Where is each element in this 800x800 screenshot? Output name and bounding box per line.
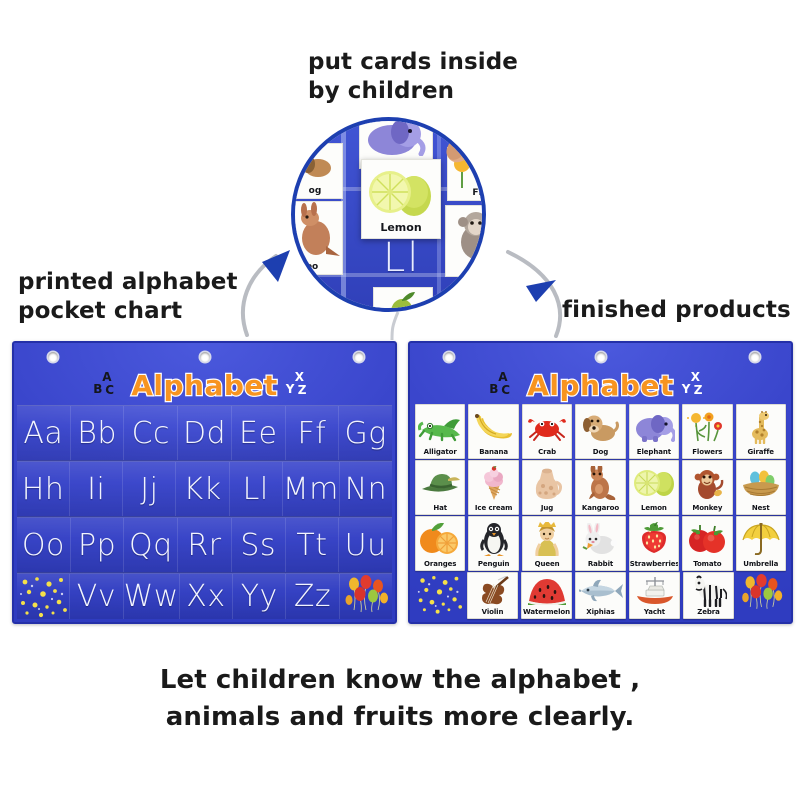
yacht-icon bbox=[634, 576, 676, 606]
balloons-decoration-cell bbox=[737, 573, 786, 618]
letter-pocket[interactable]: Oo bbox=[17, 518, 71, 572]
product-infographic: put cards inside by children printed alp… bbox=[0, 0, 800, 800]
card-art bbox=[683, 518, 731, 559]
inset-card-dog: og bbox=[291, 143, 343, 199]
card-art bbox=[523, 406, 571, 447]
xyz-decoration-right: X Y Z bbox=[682, 370, 712, 400]
card-art bbox=[522, 574, 571, 607]
letter-pocket[interactable]: Ww bbox=[124, 574, 180, 619]
chart-title-row: A B C Alphabet X Y Z bbox=[410, 365, 791, 405]
card-label: Jug bbox=[523, 503, 571, 514]
picture-card-yacht[interactable]: Yacht bbox=[629, 572, 680, 619]
elephant-icon bbox=[633, 412, 675, 442]
tomato-icon bbox=[687, 524, 727, 554]
letter-label: Xx bbox=[186, 579, 225, 614]
card-art bbox=[630, 574, 679, 607]
closeup-photo: og oo bbox=[295, 121, 482, 308]
dog-icon bbox=[581, 412, 619, 442]
letter-pocket[interactable]: Vv bbox=[70, 574, 123, 619]
letter-pocket[interactable]: Zz bbox=[286, 574, 339, 619]
grommet bbox=[48, 352, 58, 362]
letter-pocket[interactable]: Nn bbox=[340, 462, 392, 516]
picture-card-banana[interactable]: Banana bbox=[468, 404, 518, 459]
letter-label: Ee bbox=[239, 416, 277, 451]
xyz-decoration-right: X Y Z bbox=[286, 370, 316, 400]
flowers-icon bbox=[687, 411, 727, 443]
picture-card-alligator[interactable]: Alligator bbox=[415, 404, 465, 459]
card-art bbox=[416, 406, 464, 447]
letter-label: Tt bbox=[296, 528, 327, 563]
card-art bbox=[576, 462, 624, 503]
abc-letter: A bbox=[498, 370, 507, 384]
arrow-head-right bbox=[526, 280, 556, 302]
picture-card-oranges[interactable]: Oranges bbox=[415, 516, 465, 571]
xyz-letter: X bbox=[295, 370, 304, 384]
card-label: Rabbit bbox=[576, 559, 624, 570]
card-label: Banana bbox=[469, 447, 517, 458]
picture-card-watermelon[interactable]: Watermelon bbox=[521, 572, 572, 619]
balloons-decoration-cell bbox=[340, 574, 392, 619]
letter-pocket[interactable]: Jj bbox=[123, 462, 176, 516]
letter-pocket[interactable]: Xx bbox=[180, 574, 233, 619]
picture-card-crab[interactable]: Crab bbox=[522, 404, 572, 459]
letter-label: Zz bbox=[294, 579, 331, 614]
card-art bbox=[630, 406, 678, 447]
xyz-letter: Z bbox=[694, 383, 703, 397]
letter-pocket[interactable]: Yy bbox=[233, 574, 286, 619]
closeup-photo-circle: og oo bbox=[291, 117, 486, 312]
letter-label: Jj bbox=[140, 472, 158, 507]
chart-title: Alphabet bbox=[527, 369, 674, 402]
hat-icon bbox=[418, 469, 462, 497]
letter-label: Qq bbox=[129, 528, 173, 563]
letter-pocket[interactable]: Hh bbox=[17, 462, 70, 516]
jug-icon bbox=[532, 466, 562, 500]
letter-label: Pp bbox=[78, 528, 116, 563]
picture-card-xiphias[interactable]: Xiphias bbox=[575, 572, 626, 619]
inset-card-kangaroo: oo bbox=[291, 201, 343, 275]
grommet bbox=[750, 352, 760, 362]
letter-pocket[interactable]: Mm bbox=[283, 462, 340, 516]
letter-pocket[interactable]: Aa bbox=[17, 406, 71, 460]
letter-label: Cc bbox=[132, 416, 170, 451]
letter-label: Dd bbox=[183, 416, 226, 451]
card-art bbox=[468, 574, 517, 607]
confetti-icon bbox=[17, 574, 69, 619]
chart-title-row: A B C Alphabet X Y Z bbox=[14, 365, 395, 405]
letter-label: Nn bbox=[345, 472, 387, 507]
letter-label: Ff bbox=[298, 416, 327, 451]
inset-card-label: og bbox=[291, 186, 342, 196]
card-label: Yacht bbox=[630, 607, 679, 618]
inset-lemon-label: Lemon bbox=[362, 221, 440, 234]
picture-card-penguin[interactable]: Penguin bbox=[468, 516, 518, 571]
xyz-letter: X bbox=[691, 370, 700, 384]
card-art bbox=[630, 518, 678, 559]
letter-pocket[interactable]: Ii bbox=[70, 462, 123, 516]
picture-card-row[interactable]: Hat Ice cream bbox=[415, 461, 786, 514]
xyz-letter: Z bbox=[298, 383, 307, 397]
abc-letter: A bbox=[102, 370, 111, 384]
rabbit-icon bbox=[582, 523, 618, 555]
grommet bbox=[596, 352, 606, 362]
inset-card-partial-bottom bbox=[373, 287, 433, 312]
kangaroo-icon bbox=[583, 466, 617, 500]
card-art bbox=[684, 574, 733, 607]
picture-card-row[interactable]: Violin Watermelon bbox=[415, 573, 786, 618]
picture-card-lemon[interactable]: Lemon bbox=[629, 460, 679, 515]
grommet bbox=[200, 352, 210, 362]
monkey-icon bbox=[446, 206, 486, 264]
letter-pocket[interactable]: Cc bbox=[124, 406, 178, 460]
picture-card-nest[interactable]: Nest bbox=[736, 460, 786, 515]
card-label: Hat bbox=[416, 503, 464, 514]
letter-label: Mm bbox=[283, 472, 339, 507]
card-art bbox=[416, 518, 464, 559]
inset-card-label: Mo bbox=[446, 264, 486, 274]
letter-pocket-row[interactable]: Hh Ii Jj Kk Ll Mm Nn bbox=[17, 461, 392, 517]
letter-pocket[interactable]: Ll bbox=[230, 462, 283, 516]
arrow-stem-center bbox=[392, 312, 398, 340]
card-art bbox=[737, 462, 785, 503]
letter-pocket[interactable]: Bb bbox=[71, 406, 125, 460]
card-art bbox=[630, 462, 678, 503]
card-art bbox=[576, 518, 624, 559]
xyz-letter: Y bbox=[286, 382, 295, 396]
picture-card-rabbit[interactable]: Rabbit bbox=[575, 516, 625, 571]
fruit-icon bbox=[374, 288, 432, 312]
card-label: Dog bbox=[576, 447, 624, 458]
card-label: Monkey bbox=[683, 503, 731, 514]
card-label: Penguin bbox=[469, 559, 517, 570]
letter-pocket-row[interactable]: Oo Pp Qq Rr Ss Tt Uu bbox=[17, 517, 392, 573]
letter-label: Yy bbox=[241, 579, 278, 614]
grommet bbox=[354, 352, 364, 362]
card-label: Queen bbox=[523, 559, 571, 570]
strawberries-icon bbox=[637, 522, 671, 556]
card-label: Flowers bbox=[683, 447, 731, 458]
monkey-icon bbox=[689, 467, 725, 499]
picture-card-hat[interactable]: Hat bbox=[415, 460, 465, 515]
letter-label: Bb bbox=[77, 416, 117, 451]
letter-label: Hh bbox=[22, 472, 65, 507]
card-art bbox=[469, 406, 517, 447]
arrow-head-left bbox=[262, 250, 290, 282]
letter-pocket[interactable]: Dd bbox=[178, 406, 232, 460]
picture-card-elephant[interactable]: Elephant bbox=[629, 404, 679, 459]
watermelon-icon bbox=[526, 577, 568, 605]
grommet bbox=[444, 352, 454, 362]
confetti-icon bbox=[415, 573, 464, 615]
letter-pocket[interactable]: Tt bbox=[286, 518, 340, 572]
crab-icon bbox=[527, 412, 567, 442]
letter-pocket[interactable]: Kk bbox=[176, 462, 229, 516]
picture-card-jug[interactable]: Jug bbox=[522, 460, 572, 515]
ice-cream-icon bbox=[480, 466, 508, 500]
card-label: Crab bbox=[523, 447, 571, 458]
letter-label: Ii bbox=[87, 472, 105, 507]
printed-alphabet-pocket-chart[interactable]: A B C Alphabet X Y Z Aa Bb Cc Dd Ee Ff G… bbox=[12, 341, 397, 624]
xiphias-icon bbox=[579, 578, 623, 604]
letter-label: Aa bbox=[23, 416, 63, 451]
picture-card-monkey[interactable]: Monkey bbox=[682, 460, 732, 515]
letter-pocket[interactable]: Ff bbox=[286, 406, 340, 460]
picture-card-dog[interactable]: Dog bbox=[575, 404, 625, 459]
card-label: Zebra bbox=[684, 607, 733, 618]
callout-finished-products: finished products bbox=[562, 296, 791, 325]
inset-card-monkey: Mo bbox=[445, 205, 486, 277]
card-label: Xiphias bbox=[576, 607, 625, 618]
card-art bbox=[523, 462, 571, 503]
card-label: Elephant bbox=[630, 447, 678, 458]
arrow-line-left bbox=[243, 256, 276, 335]
letter-pocket[interactable]: Pp bbox=[71, 518, 125, 572]
inset-pocket-letter: Ll bbox=[383, 235, 420, 281]
card-art bbox=[737, 518, 785, 559]
letter-pocket[interactable]: Ss bbox=[232, 518, 286, 572]
dog-icon bbox=[291, 144, 342, 186]
card-label: Kangaroo bbox=[576, 503, 624, 514]
letter-label: Gg bbox=[345, 416, 387, 451]
card-art bbox=[683, 462, 731, 503]
picture-card-row[interactable]: Oranges Penguin bbox=[415, 517, 786, 570]
letter-pocket-row[interactable]: Aa Bb Cc Dd Ee Ff Gg bbox=[17, 405, 392, 461]
callout-printed-alphabet-pocket-chart: printed alphabet pocket chart bbox=[18, 268, 238, 327]
card-art bbox=[576, 406, 624, 447]
abc-decoration-left: A B C bbox=[93, 370, 123, 400]
card-art bbox=[469, 518, 517, 559]
abc-letter: C bbox=[105, 383, 114, 397]
abc-letter: C bbox=[501, 383, 510, 397]
card-label: Nest bbox=[737, 503, 785, 514]
tagline-text: Let children know the alphabet , animals… bbox=[0, 662, 800, 736]
giraffe-icon bbox=[746, 410, 776, 444]
violin-icon bbox=[475, 576, 511, 606]
card-art bbox=[576, 574, 625, 607]
kangaroo-icon bbox=[291, 202, 342, 262]
confetti-decoration-cell bbox=[415, 573, 464, 618]
card-label: Tomato bbox=[683, 559, 731, 570]
letter-label: Vv bbox=[77, 579, 116, 614]
picture-card-umbrella[interactable]: Umbrella bbox=[736, 516, 786, 571]
callout-put-cards-inside: put cards inside by children bbox=[308, 48, 518, 107]
card-art bbox=[416, 462, 464, 503]
letter-label: Ss bbox=[240, 528, 276, 563]
letter-label: Rr bbox=[187, 528, 221, 563]
hand-icon bbox=[407, 117, 486, 199]
card-label: Umbrella bbox=[737, 559, 785, 570]
letter-label: Ww bbox=[124, 579, 179, 614]
letter-label: Kk bbox=[184, 472, 222, 507]
abc-letter: B bbox=[93, 382, 102, 396]
queen-icon bbox=[532, 522, 562, 556]
picture-card-kangaroo[interactable]: Kangaroo bbox=[575, 460, 625, 515]
card-label: Lemon bbox=[630, 503, 678, 514]
card-art bbox=[683, 406, 731, 447]
letter-pocket[interactable]: Qq bbox=[124, 518, 178, 572]
penguin-icon bbox=[479, 522, 509, 556]
balloons-icon bbox=[737, 573, 786, 615]
abc-decoration-left: A B C bbox=[489, 370, 519, 400]
confetti-decoration-cell bbox=[17, 574, 70, 619]
card-label: Strawberries bbox=[630, 559, 678, 570]
card-label: Ice cream bbox=[469, 503, 517, 514]
card-label: Alligator bbox=[416, 447, 464, 458]
letter-label: Uu bbox=[345, 528, 387, 563]
picture-card-ice-cream[interactable]: Ice cream bbox=[468, 460, 518, 515]
zebra-icon bbox=[691, 575, 727, 607]
card-art bbox=[523, 518, 571, 559]
card-art bbox=[469, 462, 517, 503]
chart-title: Alphabet bbox=[131, 369, 278, 402]
umbrella-icon bbox=[741, 523, 781, 555]
oranges-icon bbox=[419, 523, 461, 555]
picture-card-giraffe[interactable]: Giraffe bbox=[736, 404, 786, 459]
picture-card-zebra[interactable]: Zebra bbox=[683, 572, 734, 619]
card-label: Watermelon bbox=[522, 607, 571, 618]
abc-letter: B bbox=[489, 382, 498, 396]
picture-card-flowers[interactable]: Flowers bbox=[682, 404, 732, 459]
card-label: Giraffe bbox=[737, 447, 785, 458]
letter-pocket[interactable]: Ee bbox=[232, 406, 286, 460]
lemon-icon bbox=[633, 468, 675, 498]
finished-product-pocket-chart[interactable]: A B C Alphabet X Y Z bbox=[408, 341, 793, 624]
picture-card-strawberries[interactable]: Strawberries bbox=[629, 516, 679, 571]
arrow-line-right bbox=[508, 252, 560, 336]
letter-pocket[interactable]: Rr bbox=[178, 518, 232, 572]
nest-icon bbox=[740, 468, 782, 498]
letter-label: Oo bbox=[22, 528, 65, 563]
letter-label: Ll bbox=[243, 472, 269, 507]
xyz-letter: Y bbox=[682, 382, 691, 396]
letter-pocket[interactable]: Gg bbox=[339, 406, 392, 460]
banana-icon bbox=[472, 412, 516, 442]
balloons-icon bbox=[340, 574, 392, 619]
card-art bbox=[737, 406, 785, 447]
picture-card-row[interactable]: Alligator Banana bbox=[415, 405, 786, 458]
letter-pocket-row[interactable]: Vv Ww Xx Yy Zz bbox=[17, 573, 392, 619]
inset-card-label: oo bbox=[291, 262, 342, 272]
card-label: Violin bbox=[468, 607, 517, 618]
card-label: Oranges bbox=[416, 559, 464, 570]
picture-card-violin[interactable]: Violin bbox=[467, 572, 518, 619]
alligator-icon bbox=[418, 412, 462, 442]
letter-pocket[interactable]: Uu bbox=[339, 518, 392, 572]
picture-card-queen[interactable]: Queen bbox=[522, 516, 572, 571]
picture-card-tomato[interactable]: Tomato bbox=[682, 516, 732, 571]
